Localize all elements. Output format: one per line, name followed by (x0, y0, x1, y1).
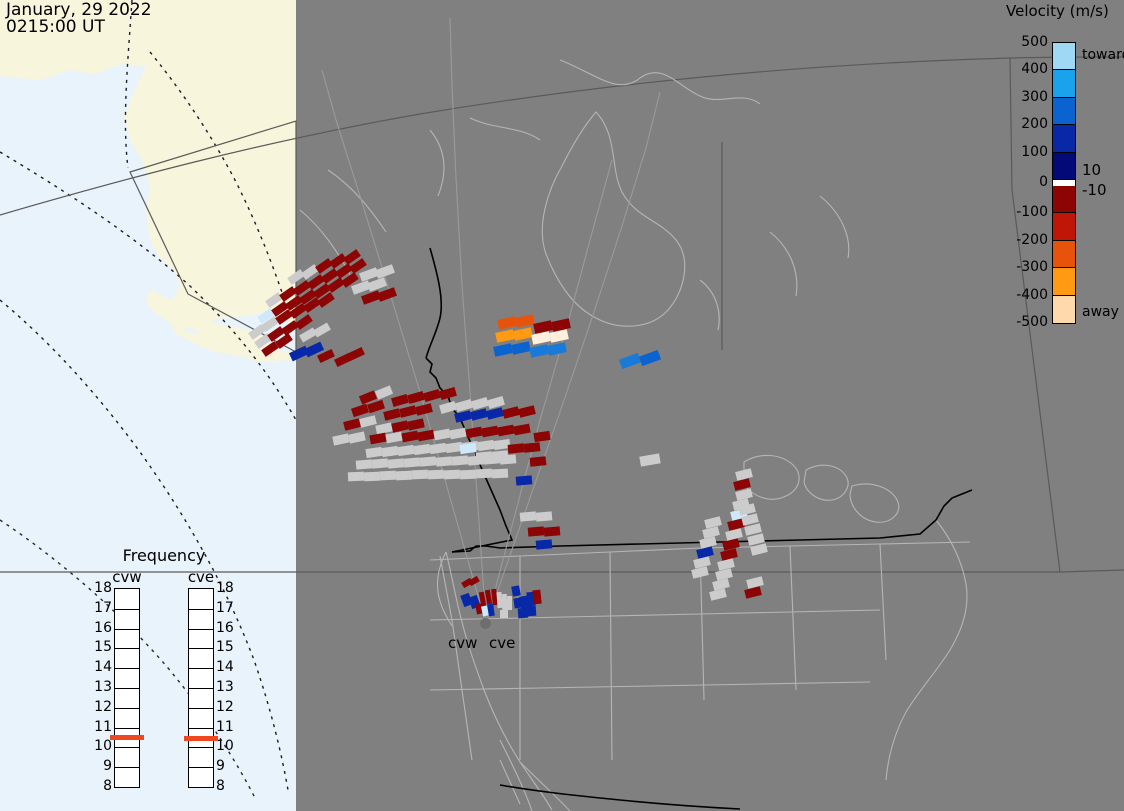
velocity-toward-label: toward (1082, 48, 1124, 62)
velocity-colorbar-segment (1053, 70, 1075, 97)
frequency-scale-label: 13 (90, 680, 112, 694)
velocity-cell (511, 585, 521, 596)
velocity-colorbar-title: Velocity (m/s) (1006, 2, 1109, 20)
velocity-cell (420, 456, 437, 466)
velocity-tick-label: -400 (996, 288, 1048, 302)
velocity-tick-label: 300 (996, 90, 1048, 104)
velocity-cell (396, 471, 412, 481)
velocity-cell (364, 472, 380, 482)
frequency-scale-label: 17 (216, 601, 238, 615)
velocity-tick-label: 500 (996, 35, 1048, 49)
frequency-scale-label: 15 (90, 640, 112, 654)
frequency-tick-line (189, 648, 213, 649)
frequency-scale-label: 12 (216, 700, 238, 714)
frequency-bar-cvw (114, 588, 140, 788)
frequency-marker-cve (184, 736, 218, 741)
velocity-cell (428, 470, 444, 480)
frequency-scale-label: 18 (216, 581, 238, 595)
velocity-colorbar-segment (1053, 125, 1075, 152)
velocity-cell (380, 471, 396, 481)
radar-map-figure: January, 29 2022 0215:00 UT cvw cve Velo… (0, 0, 1124, 811)
frequency-scale-label: 8 (216, 779, 238, 793)
velocity-cell (530, 456, 547, 467)
frequency-scale-label: 14 (90, 660, 112, 674)
timestamp-time: 0215:00 UT (6, 19, 105, 36)
station-label-cve: cve (489, 634, 515, 652)
velocity-colorbar (1052, 42, 1076, 324)
velocity-cell (500, 610, 508, 618)
frequency-tick-line (115, 747, 139, 748)
frequency-scale-label: 16 (90, 621, 112, 635)
frequency-scale-label: 14 (216, 660, 238, 674)
frequency-tick-line (189, 728, 213, 729)
frequency-tick-line (189, 688, 213, 689)
frequency-tick-line (189, 747, 213, 748)
frequency-scale-label: 17 (90, 601, 112, 615)
frequency-bar-cve (188, 588, 214, 788)
velocity-tick-label: -200 (996, 233, 1048, 247)
velocity-cell (476, 451, 493, 462)
frequency-tick-line (189, 668, 213, 669)
velocity-cell (348, 472, 364, 482)
frequency-scale-label: 13 (216, 680, 238, 694)
velocity-cell (444, 470, 460, 480)
frequency-panel-title: Frequency (84, 546, 244, 565)
frequency-tick-line (115, 708, 139, 709)
frequency-tick-line (115, 688, 139, 689)
frequency-panel: Frequency cvw cve 1818171716161515141413… (84, 546, 244, 786)
velocity-cell (404, 457, 421, 467)
velocity-cell (508, 443, 525, 454)
frequency-scale-label: 9 (90, 759, 112, 773)
velocity-cell (388, 458, 405, 468)
velocity-colorbar-segment (1053, 296, 1075, 323)
velocity-cell (436, 456, 453, 466)
velocity-cell (460, 470, 476, 480)
velocity-cell (536, 511, 553, 521)
velocity-cell (492, 450, 509, 461)
frequency-tick-line (189, 629, 213, 630)
velocity-colorbar-segment (1053, 241, 1075, 268)
frequency-tick-line (189, 708, 213, 709)
velocity-cell (507, 596, 512, 610)
frequency-tick-line (189, 767, 213, 768)
velocity-tick-label: 100 (996, 145, 1048, 159)
velocity-away-label: away (1082, 305, 1119, 319)
velocity-tick-label: 200 (996, 117, 1048, 131)
velocity-tick-label: 0 (996, 175, 1048, 189)
velocity-colorbar-segment (1053, 268, 1075, 295)
velocity-cell (476, 469, 492, 479)
velocity-colorbar-segment (1053, 153, 1075, 180)
frequency-tick-line (115, 648, 139, 649)
frequency-scale-label: 12 (90, 700, 112, 714)
frequency-scale-label: 11 (216, 720, 238, 734)
frequency-scale-label: 16 (216, 621, 238, 635)
velocity-tick-label: -300 (996, 260, 1048, 274)
frequency-tick-line (115, 728, 139, 729)
velocity-cell (516, 475, 533, 485)
frequency-scale-label: 10 (216, 739, 238, 753)
frequency-scale-label: 18 (90, 581, 112, 595)
velocity-colorbar-segment (1053, 213, 1075, 240)
velocity-colorbar-segment (1053, 43, 1075, 70)
velocity-cell (356, 459, 373, 469)
velocity-cell (524, 442, 541, 453)
velocity-inner-low-label: -10 (1082, 183, 1107, 197)
velocity-colorbar-segment (1053, 98, 1075, 125)
velocity-cell (492, 469, 508, 479)
frequency-scale-label: 11 (90, 720, 112, 734)
velocity-cell (520, 511, 537, 521)
velocity-tick-label: 400 (996, 62, 1048, 76)
frequency-scale-label: 9 (216, 759, 238, 773)
velocity-cell (452, 455, 469, 465)
frequency-scale-label: 8 (90, 779, 112, 793)
radar-station-marker (480, 618, 491, 629)
frequency-tick-line (115, 629, 139, 630)
frequency-tick-line (115, 609, 139, 610)
velocity-tick-label: -100 (996, 205, 1048, 219)
velocity-tick-label: -500 (996, 315, 1048, 329)
velocity-cell (532, 590, 541, 605)
velocity-colorbar-segment (1053, 186, 1075, 213)
frequency-tick-line (115, 668, 139, 669)
frequency-marker-cvw (110, 735, 144, 740)
station-label-cvw: cvw (448, 634, 477, 652)
frequency-tick-line (115, 767, 139, 768)
velocity-cell (526, 606, 537, 617)
velocity-cell (536, 539, 553, 549)
velocity-cell (412, 470, 428, 480)
velocity-cell (372, 458, 389, 468)
velocity-cell (544, 526, 561, 536)
frequency-scale-label: 10 (90, 739, 112, 753)
velocity-inner-high-label: 10 (1082, 163, 1101, 177)
velocity-colorbar-panel: Velocity (m/s) 5004003002001000-100-200-… (970, 0, 1124, 345)
frequency-scale-label: 15 (216, 640, 238, 654)
velocity-cell (528, 526, 545, 536)
frequency-tick-line (189, 609, 213, 610)
